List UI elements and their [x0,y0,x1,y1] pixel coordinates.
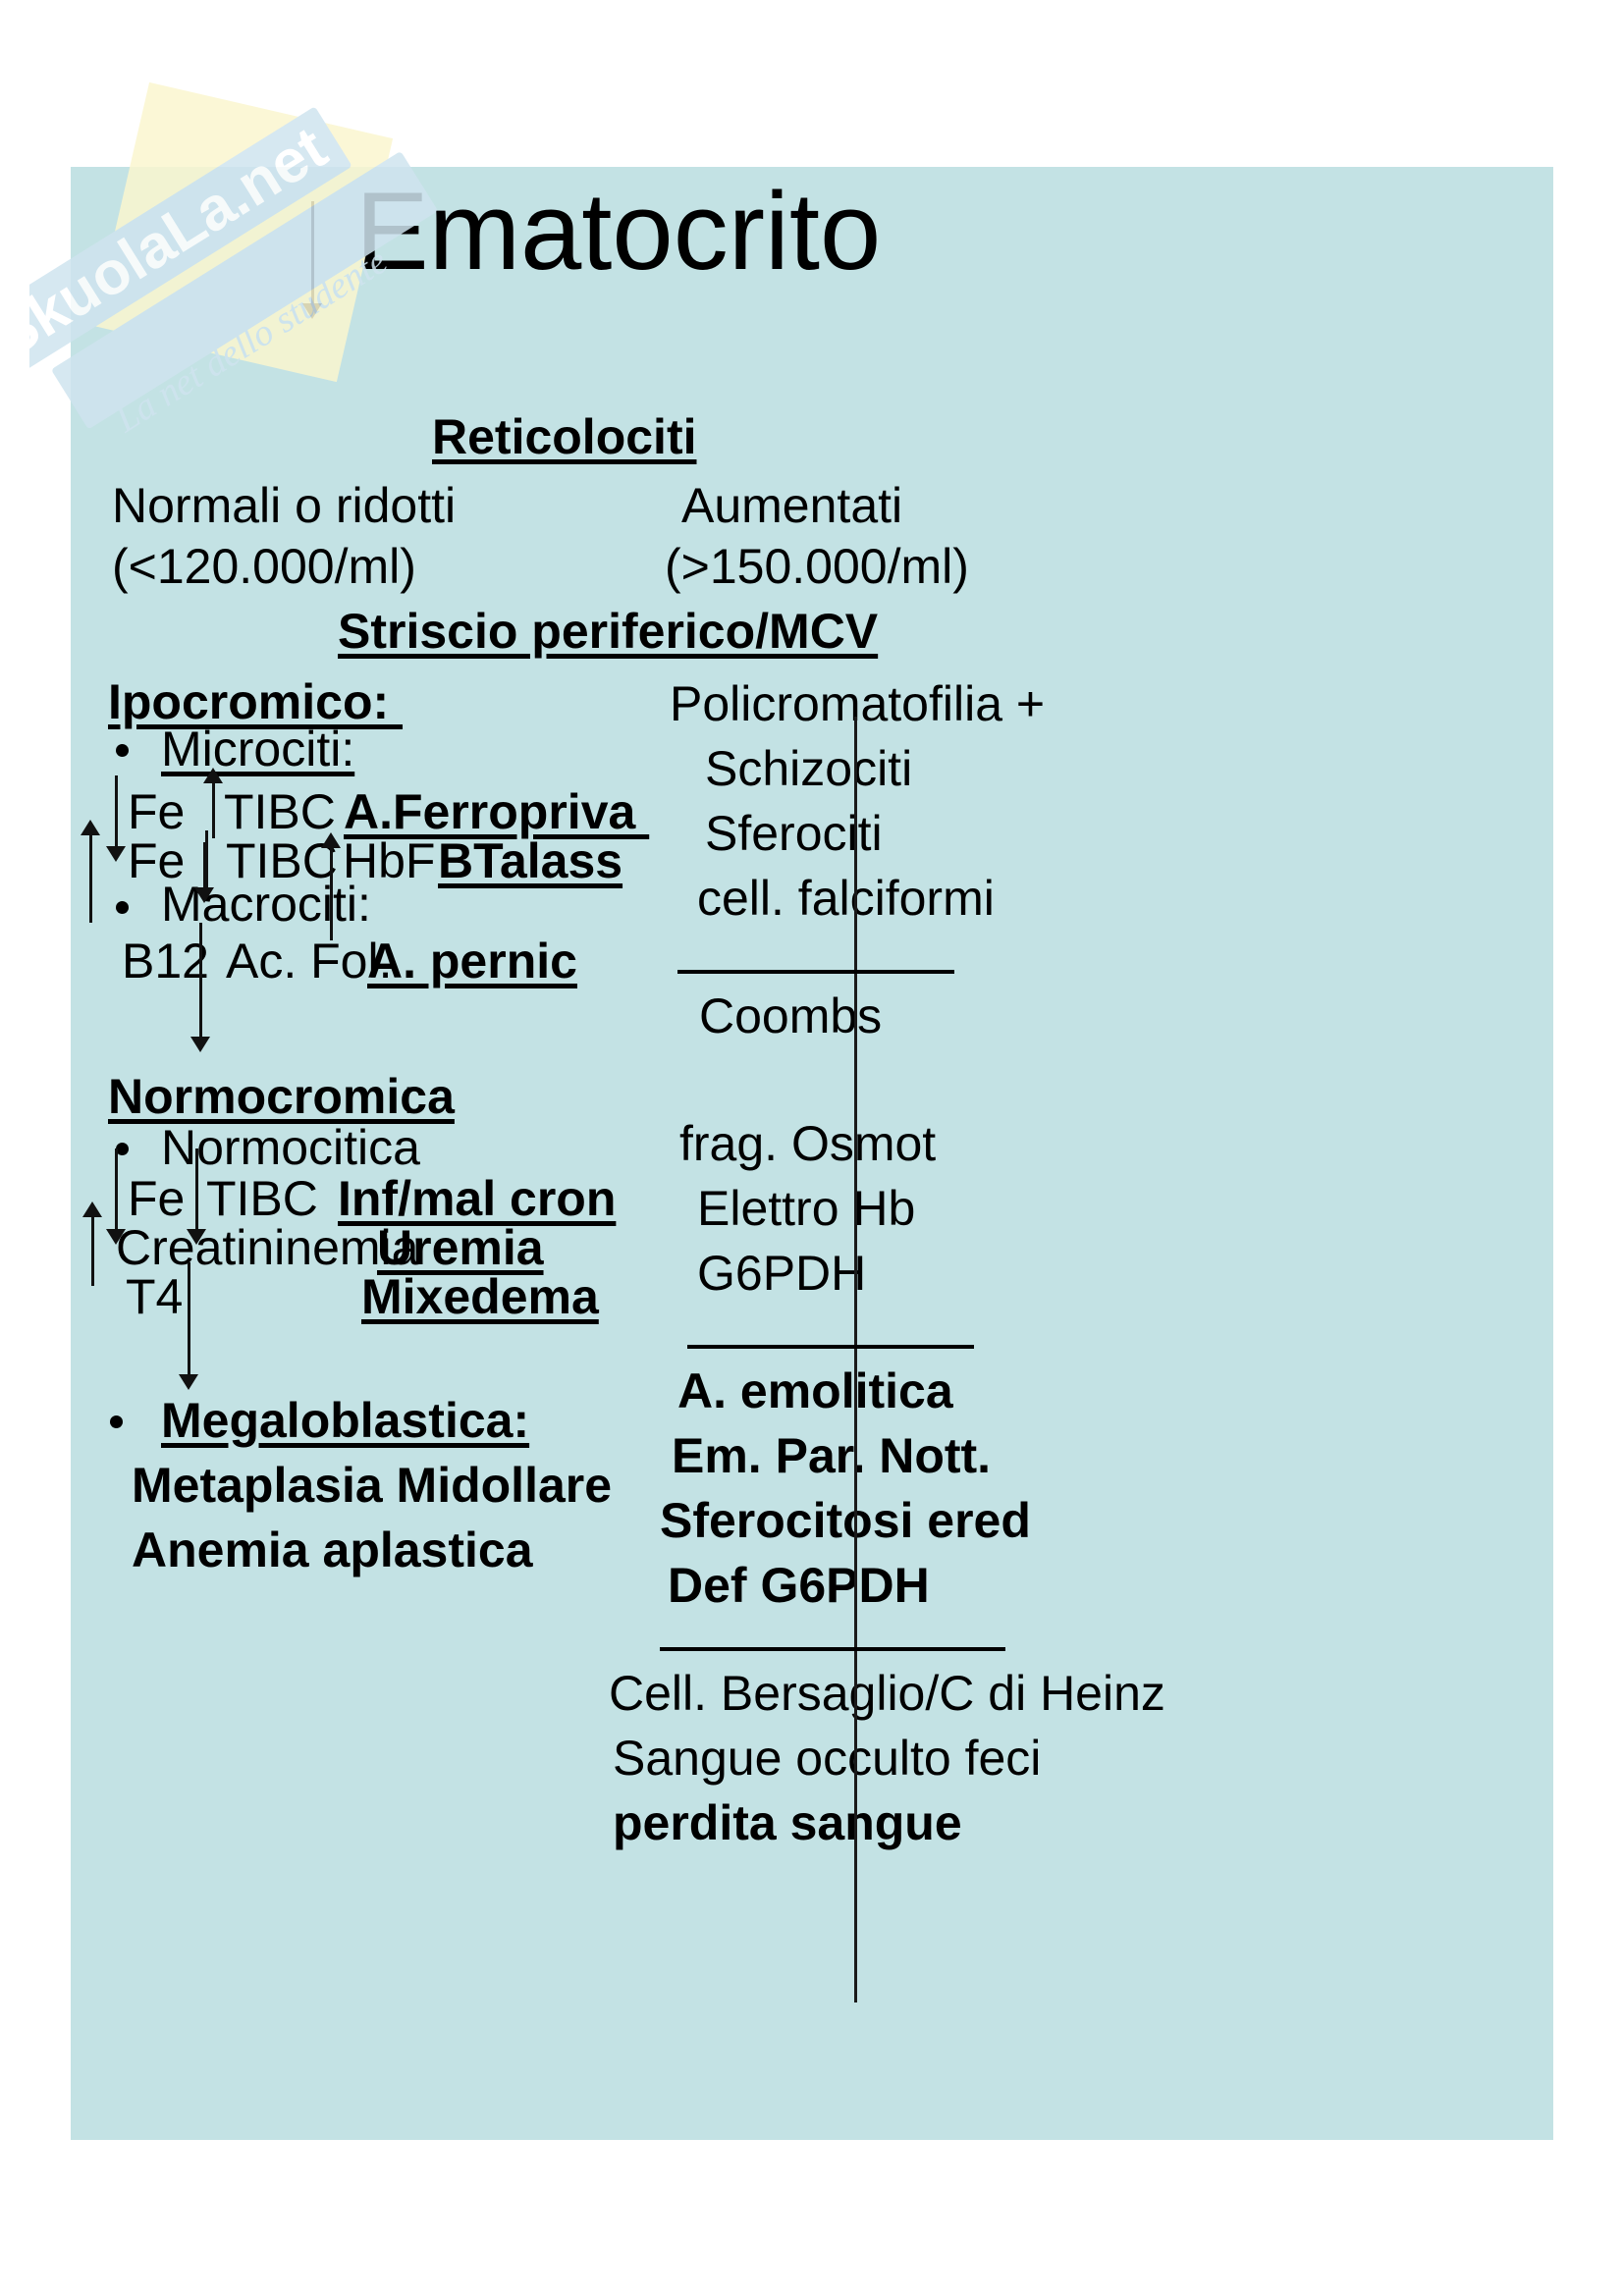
right-group4-item-0: A. emolitica [677,1366,953,1415]
reticolociti-normal-label: Normali o ridotti [112,481,456,530]
tibc-down-arrow-inf [187,1148,206,1245]
right-group4-item-1: Em. Par. Nott. [672,1431,991,1480]
diagnosis-pernic: A. pernic [367,936,577,986]
right-group3-item-0: frag. Osmot [679,1119,936,1168]
ipocromico-label: Ipocromico: [108,677,403,726]
t4-label: T4 [126,1272,183,1321]
separator-rule-1 [677,970,954,974]
macrociti-down-arrow [194,842,214,903]
reticolociti-increased-label: Aumentati [681,481,902,530]
t4-down-arrow [179,1262,198,1390]
right-group3-item-2: G6PDH [697,1249,866,1298]
reticolociti-heading: Reticolociti [432,412,696,461]
diagnosis-inf-mal-cron: Inf/mal cron [338,1174,616,1223]
striscio-heading: Striscio periferico/MCV [338,607,878,656]
right-group4-item-3: Def G6PDH [668,1561,930,1610]
hbf-up-arrow-talass [321,832,341,940]
fe-label-ferro: Fe [128,787,185,836]
creatininemia-label: Creatininemia [116,1223,418,1272]
right-group1-item-1: Schizociti [705,744,912,793]
right-group5-item-2: perdita sangue [613,1798,962,1847]
right-group3-item-1: Elettro Hb [697,1184,915,1233]
megaloblastica-item-1: Anemia aplastica [132,1525,533,1575]
diagnosis-mixedema: Mixedema [361,1272,599,1321]
microciti-label: Microciti: [161,724,354,774]
slide-canvas: Ematocrito Reticolociti Normali o ridott… [71,167,1553,2140]
fe-down-arrow-ferro [106,775,126,862]
right-group5-item-1: Sangue occulto feci [613,1734,1041,1783]
normocromica-colon: : [403,1072,416,1121]
right-group4-item-2: Sferocitosi ered [660,1496,1031,1545]
reticolociti-increased-value: (>150.000/ml) [665,542,969,591]
fe-label-inf: Fe [128,1174,185,1223]
bullet-megaloblastica [110,1415,123,1428]
tibc-label-ferro: TIBC [224,787,336,836]
fe-down-arrow-inf [106,1148,126,1245]
diagnosis-ferropriva: A.Ferropriva [344,787,649,836]
right-group1-item-0: Policromatofilia + [670,679,1045,728]
reticolociti-normal-value: (<120.000/ml) [112,542,416,591]
fe-up-arrow-talass [81,820,100,923]
megaloblastica-item-0: Metaplasia Midollare [132,1461,612,1510]
bullet-macrociti [116,901,129,914]
page-title: Ematocrito [355,177,881,287]
separator-rule-3 [660,1647,1005,1651]
bullet-microciti [116,744,129,757]
diagnosis-uremia: Uremia [377,1223,544,1272]
column-divider [854,717,857,2002]
right-group5-item-0: Cell. Bersaglio/C di Heinz [609,1669,1165,1718]
creatininemia-up-arrow [82,1201,102,1286]
b12-down-arrow [190,923,210,1052]
tibc-up-arrow-ferro [203,768,223,838]
separator-rule-2 [687,1345,974,1349]
tibc-label-inf: TIBC [206,1174,318,1223]
megaloblastica-label: Megaloblastica: [161,1396,529,1445]
diagnosis-btalass: BTalass [438,836,622,885]
right-group1-item-3: cell. falciformi [697,874,995,923]
hematocrit-down-arrow [302,201,322,319]
